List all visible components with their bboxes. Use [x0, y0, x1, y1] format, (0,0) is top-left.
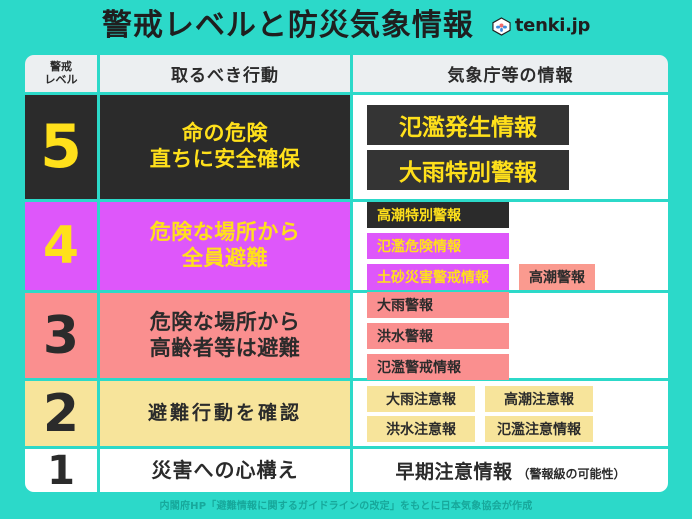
info-tag-row: 洪水警報	[367, 323, 668, 349]
action-line-1: 災害への心構え	[152, 458, 299, 482]
info-tag-row: 大雨特別警報	[367, 150, 668, 190]
header-level-line2: レベル	[45, 74, 78, 86]
info-tag-row: 洪水注意報 氾濫注意情報	[367, 416, 668, 442]
info-cell-3: 大雨警報 洪水警報 氾濫警戒情報	[353, 293, 668, 378]
level-number: 2	[43, 388, 79, 440]
level-number: 3	[43, 310, 79, 362]
info-tag-row: 大雨警報	[367, 292, 668, 318]
action-cell-5: 命の危険 直ちに安全確保	[100, 95, 350, 199]
header-info-label: 気象庁等の情報	[448, 61, 574, 86]
action-line-1: 危険な場所から	[150, 220, 301, 246]
header-cell-level: 警戒 レベル	[25, 55, 97, 92]
level-cell-1: 1	[25, 449, 97, 492]
header-action-label: 取るべき行動	[171, 61, 279, 86]
info-cell-5: 氾濫発生情報 大雨特別警報	[353, 95, 668, 199]
level-number: 5	[40, 117, 82, 177]
info-tag-row: 高潮特別警報	[367, 202, 668, 228]
action-cell-1: 災害への心構え	[100, 449, 350, 492]
action-line-2: 直ちに安全確保	[150, 147, 301, 173]
action-line-2: 高齢者等は避難	[150, 336, 301, 362]
table-row: 2 避難行動を確認 大雨注意報 高潮注意報 洪水注意報 氾濫注意情報	[25, 381, 668, 446]
level-cell-3: 3	[25, 293, 97, 378]
infographic-root: 警戒レベルと防災気象情報 tenki.jp 警戒 レベル 取る	[0, 0, 692, 519]
status-badge: 氾濫注意情報	[485, 416, 593, 442]
level-number: 1	[47, 451, 75, 491]
info-tag-row: 氾濫危険情報	[367, 233, 668, 259]
info-cell-4: 高潮特別警報 氾濫危険情報 土砂災害警戒情報 高潮警報	[353, 202, 668, 290]
level-number: 4	[43, 220, 79, 272]
source-note: 内閣府HP「避難情報に関するガイドラインの改定」をもとに日本気象協会が作成	[0, 497, 692, 512]
info-cell-1: 早期注意情報 （警報級の可能性）	[353, 449, 668, 492]
table-row: 3 危険な場所から 高齢者等は避難 大雨警報 洪水警報 氾濫警戒情報	[25, 293, 668, 378]
status-badge: 氾濫警戒情報	[367, 354, 509, 380]
info-tag-row: 氾濫発生情報	[367, 105, 668, 145]
status-badge: 大雨特別警報	[367, 150, 569, 190]
info-main-text: 早期注意情報	[395, 457, 512, 484]
level-cell-5: 5	[25, 95, 97, 199]
status-badge: 洪水警報	[367, 323, 509, 349]
info-tag-row: 大雨注意報 高潮注意報	[367, 386, 668, 412]
status-badge: 高潮注意報	[485, 386, 593, 412]
status-badge: 氾濫発生情報	[367, 105, 569, 145]
status-badge: 大雨警報	[367, 292, 509, 318]
action-line-1: 避難行動を確認	[148, 402, 302, 425]
info-tag-row: 氾濫警戒情報	[367, 354, 668, 380]
info-tag-list: 氾濫発生情報 大雨特別警報	[353, 99, 668, 196]
header-cell-info: 気象庁等の情報	[353, 55, 668, 92]
action-line-1: 命の危険	[150, 121, 301, 147]
table-row: 1 災害への心構え 早期注意情報 （警報級の可能性）	[25, 449, 668, 492]
level-cell-4: 4	[25, 202, 97, 290]
action-text: 危険な場所から 高齢者等は避難	[150, 310, 301, 361]
level-cell-2: 2	[25, 381, 97, 446]
info-tag-list: 大雨警報 洪水警報 氾濫警戒情報	[353, 286, 668, 386]
status-badge: 洪水注意報	[367, 416, 475, 442]
page-title: 警戒レベルと防災気象情報	[102, 11, 474, 41]
status-badge: 大雨注意報	[367, 386, 475, 412]
status-badge: 氾濫危険情報	[367, 233, 509, 259]
info-sub-text: （警報級の可能性）	[518, 465, 626, 482]
header-cell-action: 取るべき行動	[100, 55, 350, 92]
table-row: 4 危険な場所から 全員避難 高潮特別警報 氾濫危険情報 土砂災害警	[25, 202, 668, 290]
info-tag-list: 大雨注意報 高潮注意報 洪水注意報 氾濫注意情報	[353, 380, 668, 448]
warning-level-table: 警戒 レベル 取るべき行動 気象庁等の情報 5 命の危険 直ちに安全確保	[25, 55, 668, 492]
table-header-row: 警戒 レベル 取るべき行動 気象庁等の情報	[25, 55, 668, 92]
logo-label: tenki.jp	[515, 17, 590, 35]
action-line-1: 危険な場所から	[150, 310, 301, 336]
table-row: 5 命の危険 直ちに安全確保 氾濫発生情報 大雨特別警報	[25, 95, 668, 199]
title-bar: 警戒レベルと防災気象情報 tenki.jp	[0, 0, 692, 52]
action-cell-3: 危険な場所から 高齢者等は避難	[100, 293, 350, 378]
info-tag-list: 高潮特別警報 氾濫危険情報 土砂災害警戒情報 高潮警報	[353, 196, 668, 296]
info-cell-2: 大雨注意報 高潮注意報 洪水注意報 氾濫注意情報	[353, 381, 668, 446]
header-level-line1: 警戒	[50, 61, 72, 73]
action-cell-2: 避難行動を確認	[100, 381, 350, 446]
action-text: 危険な場所から 全員避難	[150, 220, 301, 271]
action-text: 避難行動を確認	[148, 402, 302, 425]
action-text: 災害への心構え	[152, 458, 299, 482]
status-badge: 高潮特別警報	[367, 202, 509, 228]
action-cell-4: 危険な場所から 全員避難	[100, 202, 350, 290]
info-text-group: 早期注意情報 （警報級の可能性）	[395, 457, 625, 484]
tenki-jp-logo: tenki.jp	[492, 17, 590, 36]
action-text: 命の危険 直ちに安全確保	[150, 121, 301, 172]
tenki-cube-flower-icon	[492, 17, 511, 36]
action-line-2: 全員避難	[150, 246, 301, 272]
